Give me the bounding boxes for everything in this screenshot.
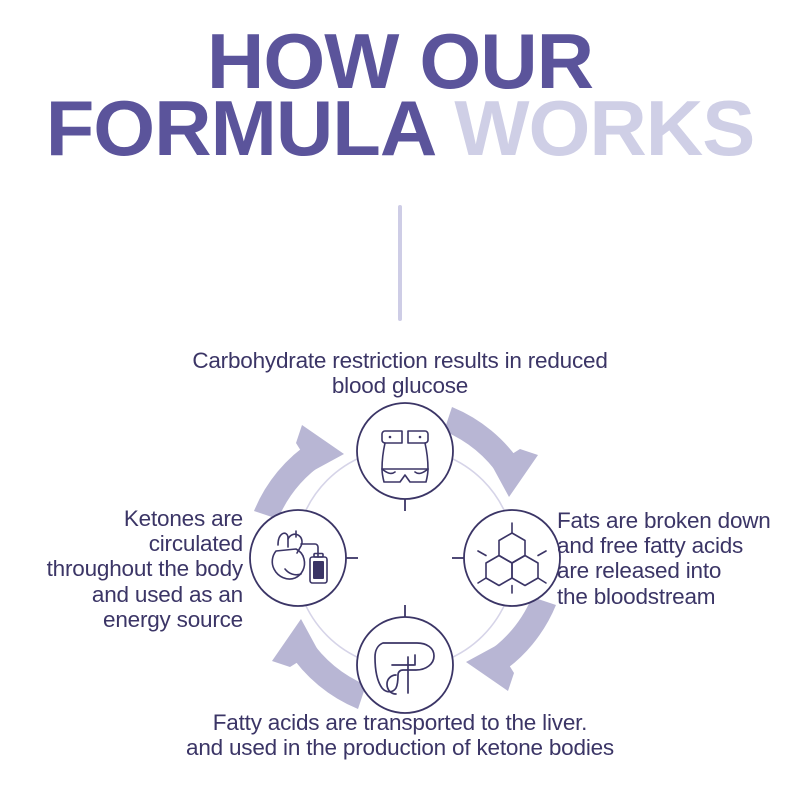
cycle-node-bottom[interactable] (357, 617, 453, 713)
title-word-works: WORKS (454, 84, 754, 172)
arrow-top-to-right (444, 407, 538, 497)
label-right: Fats are broken down and free fatty acid… (557, 508, 800, 609)
cycle-ticks (346, 499, 464, 617)
cycle-node-right[interactable] (464, 510, 560, 606)
node-circle-left (250, 510, 346, 606)
cycle-node-left[interactable] (250, 510, 346, 606)
title-connector-line (398, 205, 402, 321)
cycle-node-top[interactable] (357, 403, 453, 499)
label-bottom: Fatty acids are transported to the liver… (100, 710, 700, 760)
title-word-formula: FORMULA (46, 84, 434, 172)
title-line-2: FORMULA WORKS (0, 95, 800, 162)
label-left: Ketones are circulated throughout the bo… (0, 506, 243, 632)
arrow-bottom-to-left (272, 619, 366, 709)
arrow-left-to-top (254, 425, 344, 519)
label-top: Carbohydrate restriction results in redu… (100, 348, 700, 398)
node-circle-top (357, 403, 453, 499)
title-space (433, 84, 454, 172)
cycle-diagram (240, 393, 570, 723)
page-title: HOW OUR FORMULA WORKS (0, 28, 800, 162)
arrow-right-to-bottom (466, 597, 556, 691)
